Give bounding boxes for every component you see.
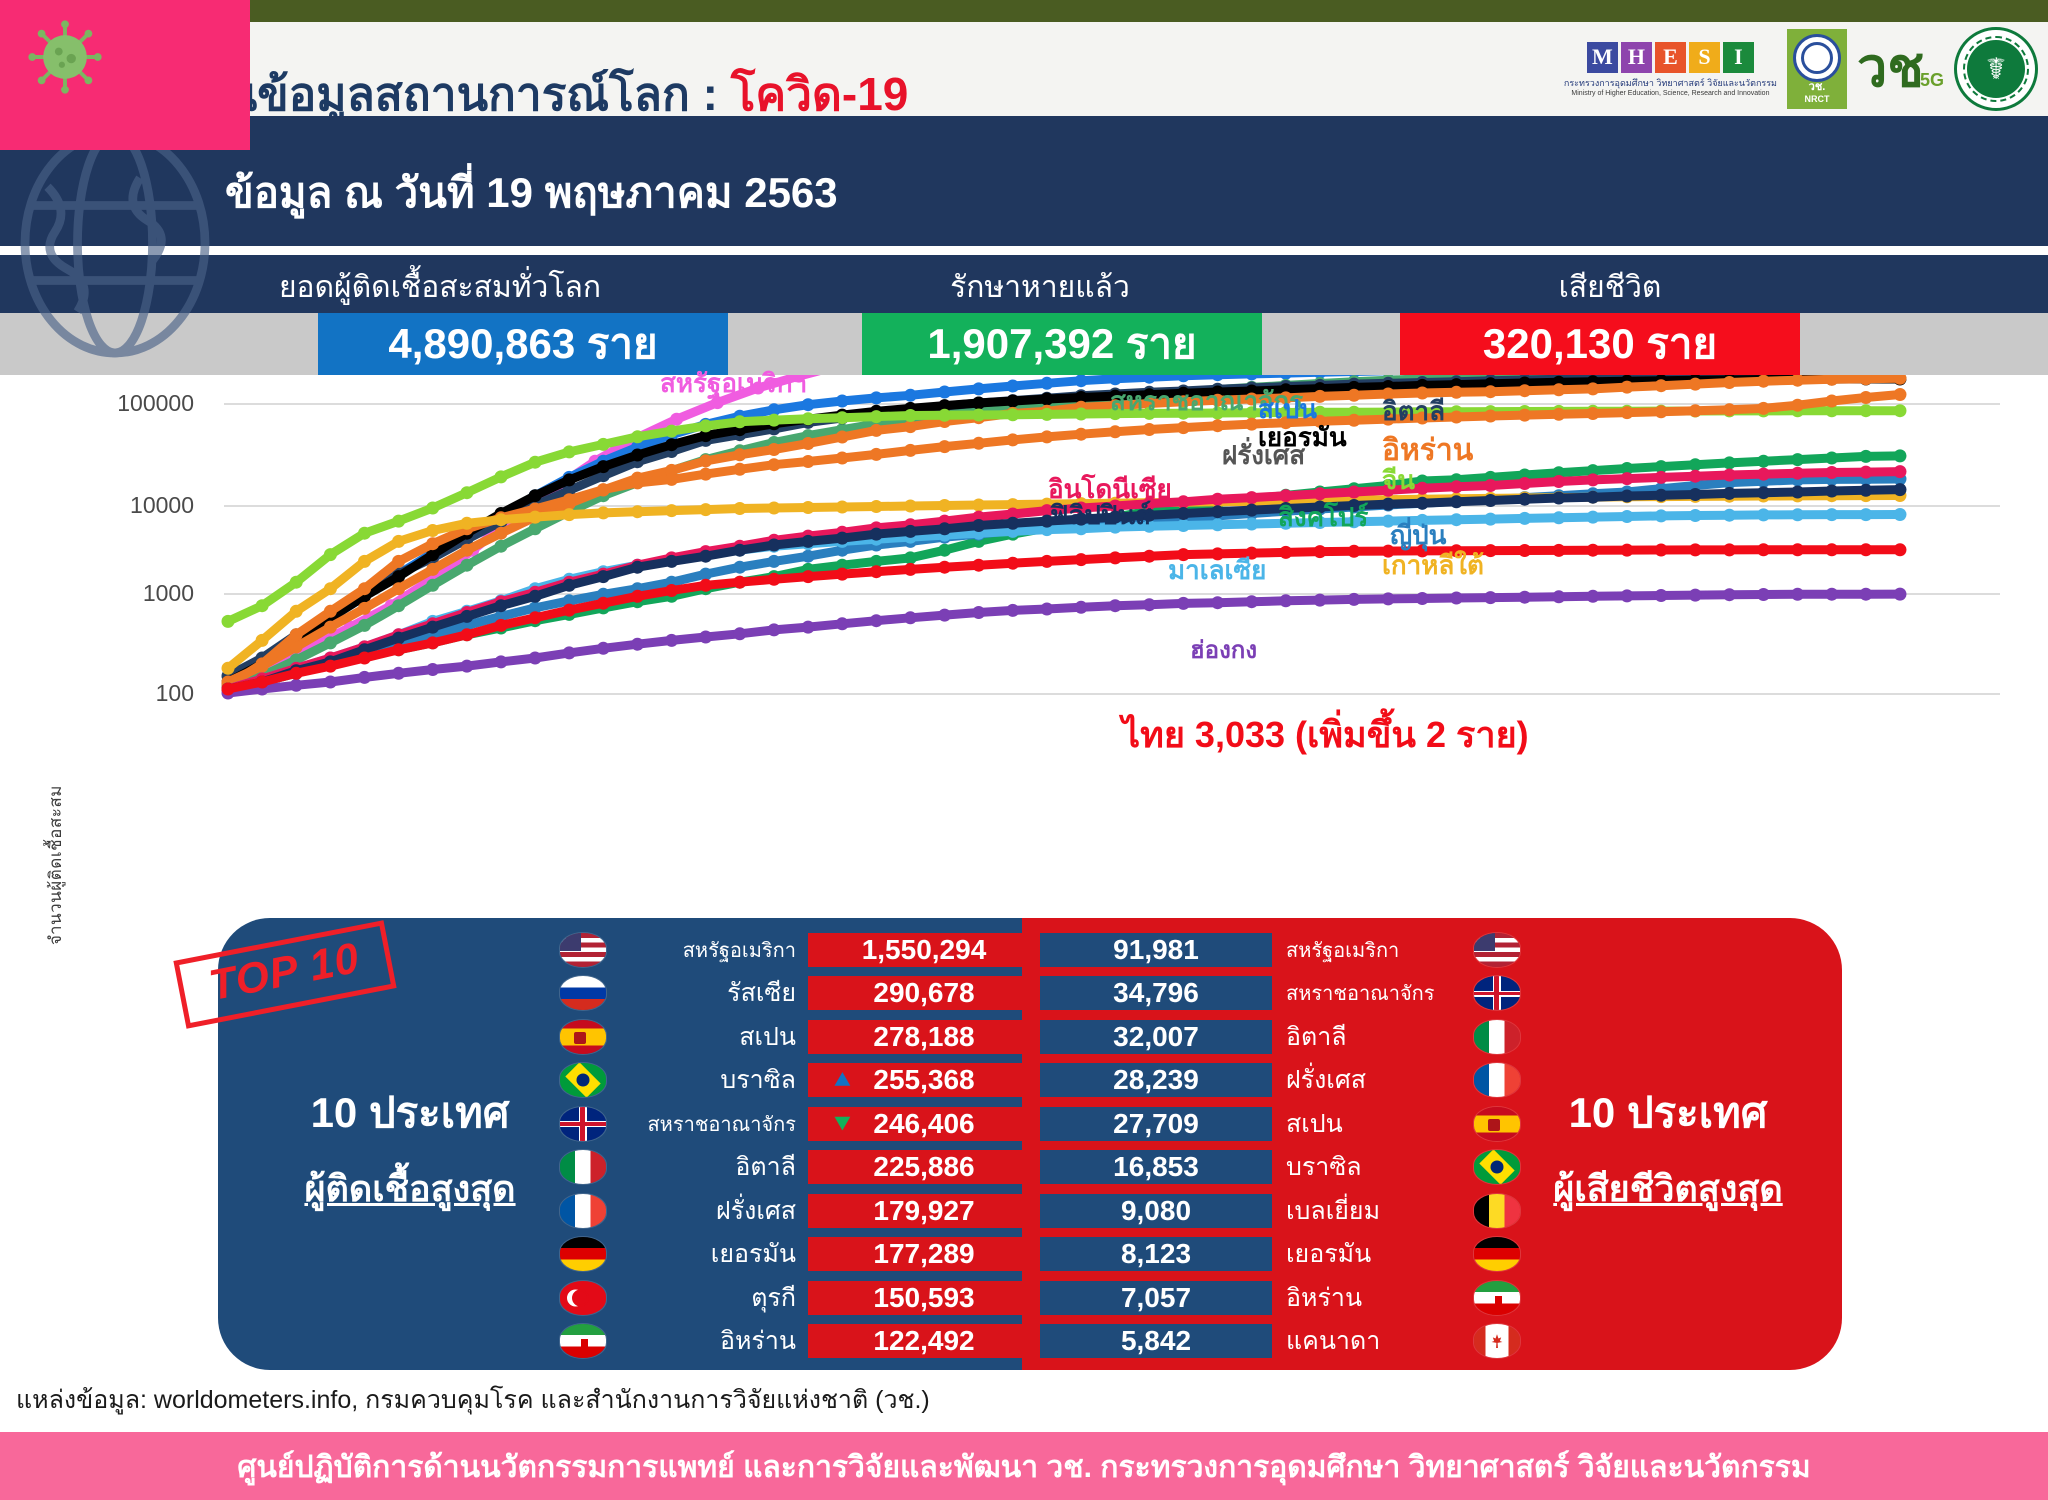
- chart-point: [1655, 544, 1668, 557]
- chart-point: [358, 652, 371, 665]
- country-name: รัสเซีย: [606, 973, 808, 1013]
- mhesi-letters: M H E S I: [1587, 42, 1754, 73]
- chart-point: [1757, 486, 1770, 499]
- chart-point: [1859, 466, 1872, 479]
- chart-point: [1859, 508, 1872, 521]
- chart-point: [1143, 598, 1156, 611]
- chart-series-label: ฝรั่งเศส: [1222, 435, 1305, 476]
- chart-point: [1723, 543, 1736, 556]
- chart-svg: [0, 375, 2048, 915]
- chart-point: [392, 582, 405, 595]
- chart-point: [1655, 379, 1668, 392]
- chart-point: [256, 634, 269, 647]
- chart-point: [1825, 485, 1838, 498]
- chart-point: [938, 609, 951, 622]
- chart-point: [836, 411, 849, 424]
- chart-point: [1689, 378, 1702, 391]
- chart-point: [358, 582, 371, 595]
- chart-point: [1177, 507, 1190, 520]
- chart-point: [1416, 592, 1429, 605]
- chart-point: [1894, 388, 1907, 401]
- stat-value-deaths: 320,130 ราย: [1400, 313, 1800, 375]
- chart-point: [870, 410, 883, 423]
- top10-deaths-heading-line2: ผู้เสียชีวิตสูงสุด: [1478, 1160, 1858, 1217]
- chart-point: [768, 414, 781, 427]
- table-row: 5,842แคนาดา: [1040, 1320, 1520, 1364]
- chart-point: [1723, 469, 1736, 482]
- chart-point: [1040, 377, 1053, 390]
- chart-point: [1518, 493, 1531, 506]
- chart-point: [1586, 382, 1599, 395]
- chart-point: [1859, 404, 1872, 417]
- chart-point: [768, 458, 781, 471]
- country-name: สหรัฐอเมริกา: [1272, 934, 1474, 966]
- chart-point: [836, 617, 849, 630]
- chart-point: [1825, 543, 1838, 556]
- chart-point: [1586, 491, 1599, 504]
- chart-point: [972, 409, 985, 422]
- chart-point: [1450, 386, 1463, 399]
- chart-point: [1211, 518, 1224, 531]
- chart-point: [324, 676, 337, 689]
- chart-point: [1586, 473, 1599, 486]
- chart-point: [1109, 599, 1122, 612]
- chart-point: [290, 576, 303, 589]
- table-row: เยอรมัน177,289: [560, 1233, 1040, 1277]
- chart-point: [1791, 375, 1804, 387]
- chart-point: [1382, 592, 1395, 605]
- chart-point: [802, 412, 815, 425]
- chart-point: [972, 606, 985, 619]
- chart-point: [1894, 449, 1907, 462]
- chart-point: [1552, 475, 1565, 488]
- olive-top-strip: [0, 0, 2048, 22]
- country-flag-icon: [560, 1281, 606, 1315]
- chart-point: [460, 660, 473, 673]
- chart-point: [1552, 511, 1565, 524]
- chart-series-label: ฟิลิปปินส์: [1050, 495, 1151, 536]
- chart-point: [1075, 553, 1088, 566]
- chart-point: [1757, 375, 1770, 388]
- case-count: 177,289: [808, 1237, 1040, 1271]
- chart-point: [529, 511, 542, 524]
- chart-point: [358, 671, 371, 684]
- chart-point: [563, 646, 576, 659]
- chart-point: [904, 611, 917, 624]
- chart-point: [426, 663, 439, 676]
- country-name: สหราชอาณาจักร: [606, 1108, 808, 1140]
- nrct-thai-label: วช.: [1809, 82, 1826, 94]
- chart-point: [1211, 493, 1224, 506]
- chart-point: [324, 605, 337, 618]
- country-flag-icon: [1474, 1324, 1520, 1358]
- country-flag-icon: [1474, 933, 1520, 967]
- chart-point: [972, 397, 985, 410]
- chart-point: [1143, 423, 1156, 436]
- table-row: 16,853บราซิล: [1040, 1146, 1520, 1190]
- chart-point: [358, 555, 371, 568]
- chart-point: [1723, 509, 1736, 522]
- thailand-callout: ไทย 3,033 (เพิ่มขึ้น 2 ราย): [1122, 706, 1529, 763]
- chart-point: [631, 505, 644, 518]
- chart-point: [1859, 588, 1872, 601]
- table-row: 9,080เบลเยี่ยม: [1040, 1189, 1520, 1233]
- chart-point: [1416, 497, 1429, 510]
- chart-point: [222, 683, 235, 696]
- chart-point: [733, 576, 746, 589]
- stat-label-deaths: เสียชีวิต: [1400, 264, 1820, 311]
- chart-point: [1655, 489, 1668, 502]
- chart-point: [529, 652, 542, 665]
- country-flag-icon: [560, 1150, 606, 1184]
- chart-point: [870, 500, 883, 513]
- chart-point: [426, 524, 439, 537]
- mhesi-thai-name: กระทรวงการอุดมศึกษา วิทยาศาสตร์ วิจัยและ…: [1564, 76, 1777, 90]
- chart-point: [938, 440, 951, 453]
- case-count: ⯆246,406: [808, 1107, 1040, 1141]
- chart-point: [426, 537, 439, 550]
- chart-point: [324, 636, 337, 649]
- chart-point: [256, 676, 269, 689]
- table-row: อิหร่าน122,492: [560, 1320, 1040, 1364]
- country-flag-icon: [560, 1107, 606, 1141]
- chart-point: [1894, 404, 1907, 417]
- chart-point: [836, 532, 849, 545]
- country-name: เบลเยี่ยม: [1272, 1191, 1474, 1231]
- chart-point: [1621, 406, 1634, 419]
- chart-point: [836, 395, 849, 408]
- chart-point: [972, 499, 985, 512]
- chart-point: [1859, 391, 1872, 404]
- chart-point: [1859, 450, 1872, 463]
- chart-point: [631, 476, 644, 489]
- nrct-emblem-icon: [1793, 34, 1841, 82]
- case-count: 225,886: [808, 1150, 1040, 1184]
- chart-point: [870, 424, 883, 437]
- chart-series-label: สิงคโปร์: [1278, 497, 1368, 538]
- chart-point: [1484, 410, 1497, 423]
- chart-point: [1313, 545, 1326, 558]
- chart-point: [802, 570, 815, 583]
- chart-point: [460, 517, 473, 530]
- chart-point: [836, 452, 849, 465]
- chart-point: [870, 391, 883, 404]
- chart-series-label: สหรัฐอเมริกา: [660, 363, 807, 404]
- nrct-logo: วช. NRCT: [1787, 29, 1847, 109]
- chart-point: [1894, 543, 1907, 556]
- chart-point: [495, 513, 508, 526]
- country-name: บราซิล: [606, 1060, 808, 1100]
- chart-point: [972, 382, 985, 395]
- chart-point: [1757, 402, 1770, 415]
- chart-point: [938, 499, 951, 512]
- death-count: 34,796: [1040, 976, 1272, 1010]
- chart-point: [1723, 376, 1736, 389]
- chart-point: [460, 628, 473, 641]
- date-line: ข้อมูล ณ วันที่ 19 พฤษภาคม 2563: [225, 160, 838, 226]
- chart-point: [1894, 483, 1907, 496]
- table-row: สหรัฐอเมริกา1,550,294: [560, 928, 1040, 972]
- chart-point: [1006, 604, 1019, 617]
- chart-point: [1211, 505, 1224, 518]
- chart-point: [495, 470, 508, 483]
- country-name: สเปน: [606, 1017, 808, 1057]
- chart-point: [768, 573, 781, 586]
- chart-point: [529, 489, 542, 502]
- case-count: 179,927: [808, 1194, 1040, 1228]
- chart-point: [1416, 482, 1429, 495]
- table-row: 27,709สเปน: [1040, 1102, 1520, 1146]
- country-flag-icon: [1474, 976, 1520, 1010]
- country-name: บราซิล: [1272, 1147, 1474, 1187]
- chart-point: [1825, 508, 1838, 521]
- chart-point: [1279, 546, 1292, 559]
- country-name: อิตาลี: [1272, 1017, 1474, 1057]
- mhesi-letter-h: H: [1621, 42, 1652, 73]
- chart-point: [802, 550, 815, 563]
- chart-point: [1040, 603, 1053, 616]
- table-row: 32,007อิตาลี: [1040, 1015, 1520, 1059]
- chart-point: [1859, 375, 1872, 385]
- country-name: สหรัฐอเมริกา: [606, 934, 808, 966]
- table-row: 7,057อิหร่าน: [1040, 1276, 1520, 1320]
- chart-point: [1552, 492, 1565, 505]
- country-flag-icon: [560, 933, 606, 967]
- chart-point: [1621, 589, 1634, 602]
- chart-point: [699, 550, 712, 563]
- chart-point: [1655, 589, 1668, 602]
- nrct-5g-logo: วช 5G: [1857, 47, 1944, 90]
- table-row: บราซิล⯅255,368: [560, 1059, 1040, 1103]
- chart-point: [1450, 592, 1463, 605]
- logo-row: M H E S I กระทรวงการอุดมศึกษา วิทยาศาสตร…: [1564, 26, 2038, 112]
- chart-point: [904, 563, 917, 576]
- chart-point: [1859, 484, 1872, 497]
- mhesi-letter-s: S: [1689, 42, 1720, 73]
- top10-cases-heading: 10 ประเทศ ผู้ติดเชื้อสูงสุด: [240, 1080, 580, 1217]
- chart-point: [972, 559, 985, 572]
- chart-point: [904, 525, 917, 538]
- chart-point: [290, 679, 303, 692]
- chart-point: [1518, 591, 1531, 604]
- chart-point: [256, 657, 269, 670]
- five-g-label: 5G: [1920, 70, 1944, 91]
- chart-point: [529, 522, 542, 535]
- chart-point: [1621, 472, 1634, 485]
- chart-point: [665, 504, 678, 517]
- chart-point: [1689, 543, 1702, 556]
- case-count: 290,678: [808, 976, 1040, 1010]
- chart-point: [1655, 509, 1668, 522]
- top10-cases-table: สหรัฐอเมริกา1,550,294รัสเซีย290,678สเปน2…: [560, 928, 1040, 1363]
- chart-point: [733, 544, 746, 557]
- chart-series-label: ฮ่องกง: [1190, 630, 1257, 669]
- chart-point: [904, 409, 917, 422]
- chart-point: [1894, 508, 1907, 521]
- chart-point: [597, 483, 610, 496]
- mhesi-letter-e: E: [1655, 42, 1686, 73]
- chart-series-label: เกาหลีใต้: [1382, 545, 1484, 586]
- chart-point: [768, 555, 781, 568]
- chart-point: [1825, 395, 1838, 408]
- top10-cases-heading-line2: ผู้ติดเชื้อสูงสุด: [240, 1160, 580, 1217]
- country-flag-icon: [1474, 1107, 1520, 1141]
- chart-point: [1791, 399, 1804, 412]
- chart-point: [631, 590, 644, 603]
- country-flag-icon: [1474, 1063, 1520, 1097]
- chart-point: [358, 619, 371, 632]
- death-count: 28,239: [1040, 1063, 1272, 1097]
- chart-point: [290, 605, 303, 618]
- chart-point: [631, 561, 644, 574]
- table-row: 8,123เยอรมัน: [1040, 1233, 1520, 1277]
- chart-point: [1518, 544, 1531, 557]
- chart-point: [733, 463, 746, 476]
- chart-point: [1245, 491, 1258, 504]
- country-flag-icon: [1474, 1194, 1520, 1228]
- country-name: แคนาดา: [1272, 1321, 1474, 1361]
- chart-point: [938, 409, 951, 422]
- chart-point: [665, 634, 678, 647]
- chart-point: [1552, 544, 1565, 557]
- chart-point: [1245, 595, 1258, 608]
- top10-deaths-table: 91,981สหรัฐอเมริกา34,796สหราชอาณาจักร32,…: [1040, 928, 1520, 1363]
- chart-point: [1757, 455, 1770, 468]
- chart-point: [1518, 512, 1531, 525]
- table-row: 34,796สหราชอาณาจักร: [1040, 972, 1520, 1016]
- trend-up-icon: ⯅: [832, 1067, 853, 1093]
- chart-point: [802, 501, 815, 514]
- chart-point: [1006, 380, 1019, 393]
- country-name: เยอรมัน: [606, 1234, 808, 1274]
- chart-point: [1211, 596, 1224, 609]
- chart-point: [1484, 385, 1497, 398]
- chart-point: [670, 413, 683, 426]
- case-count: 1,550,294: [808, 933, 1040, 967]
- infographic-page: รายงานข้อมูลสถานการณ์โลก : โควิด-19 M H …: [0, 0, 2048, 1500]
- chart-point: [733, 448, 746, 461]
- chart-point: [597, 642, 610, 655]
- chart-point: [870, 565, 883, 578]
- chart-point: [1894, 588, 1907, 601]
- chart-point: [665, 438, 678, 451]
- chart-point: [460, 559, 473, 572]
- country-flag-icon: [1474, 1020, 1520, 1054]
- chart-point: [392, 632, 405, 645]
- chart-point: [665, 425, 678, 438]
- chart-point: [1040, 393, 1053, 406]
- chart-point: [1348, 593, 1361, 606]
- chart-series-label: จีน: [1382, 460, 1415, 501]
- death-count: 5,842: [1040, 1324, 1272, 1358]
- chart-point: [358, 527, 371, 540]
- chart-point: [1791, 588, 1804, 601]
- chart-point: [1621, 510, 1634, 523]
- chart-point: [1791, 508, 1804, 521]
- chart-point: [665, 473, 678, 486]
- chart-point: [1757, 508, 1770, 521]
- chart-point: [563, 604, 576, 617]
- chart-point: [699, 468, 712, 481]
- chart-point: [1791, 486, 1804, 499]
- chart-point: [1450, 513, 1463, 526]
- nrct-swirl-icon: วช: [1857, 47, 1924, 90]
- chart-point: [1518, 477, 1531, 490]
- chart-point: [529, 590, 542, 603]
- chart-point: [1757, 588, 1770, 601]
- chart-point: [1075, 601, 1088, 614]
- country-flag-icon: [1474, 1150, 1520, 1184]
- case-count: 278,188: [808, 1020, 1040, 1054]
- chart-point: [1586, 590, 1599, 603]
- chart-point: [222, 615, 235, 628]
- chart-point: [1825, 466, 1838, 479]
- chart-point: [597, 506, 610, 519]
- chart-point: [1825, 588, 1838, 601]
- chart-point: [1040, 555, 1053, 568]
- chart-point: [904, 500, 917, 513]
- chart-point: [768, 502, 781, 515]
- country-name: ตุรกี: [606, 1278, 808, 1318]
- chart-point: [1177, 597, 1190, 610]
- chart-point: [495, 540, 508, 553]
- chart-point: [699, 631, 712, 644]
- chart-point: [733, 415, 746, 428]
- chart-point: [290, 667, 303, 680]
- chart-point: [1518, 409, 1531, 422]
- chart-point: [836, 501, 849, 514]
- country-flag-icon: [560, 1063, 606, 1097]
- source-note: แหล่งข้อมูล: worldometers.info, กรมควบคุ…: [16, 1380, 930, 1420]
- death-count: 8,123: [1040, 1237, 1272, 1271]
- chart-point: [972, 519, 985, 532]
- chart-point: [1313, 594, 1326, 607]
- chart-point: [222, 662, 235, 675]
- chart-point: [1245, 375, 1258, 380]
- chart-point: [563, 579, 576, 592]
- chart-point: [665, 555, 678, 568]
- chart-point: [1689, 509, 1702, 522]
- death-count: 9,080: [1040, 1194, 1272, 1228]
- country-name: อิหร่าน: [606, 1321, 808, 1361]
- chart-point: [1450, 411, 1463, 424]
- chart-point: [1757, 468, 1770, 481]
- chart-point: [1177, 421, 1190, 434]
- country-flag-icon: [560, 1020, 606, 1054]
- chart-point: [1006, 433, 1019, 446]
- top10-deaths-heading-line1: 10 ประเทศ: [1478, 1080, 1858, 1146]
- chart-point: [1518, 384, 1531, 397]
- table-row: รัสเซีย290,678: [560, 972, 1040, 1016]
- country-flag-icon: [1474, 1281, 1520, 1315]
- chart-point: [1075, 408, 1088, 421]
- chart-point: [1177, 519, 1190, 532]
- chart-point: [1689, 404, 1702, 417]
- moph-logo: ☤: [1954, 27, 2038, 111]
- chart-point: [1484, 544, 1497, 557]
- chart-point: [324, 660, 337, 673]
- chart-point: [324, 621, 337, 634]
- chart-point: [1245, 504, 1258, 517]
- chart-point: [1859, 543, 1872, 556]
- table-row: สหราชอาณาจักร⯆246,406: [560, 1102, 1040, 1146]
- chart-point: [938, 522, 951, 535]
- chart-point: [1552, 590, 1565, 603]
- table-row: ตุรกี150,593: [560, 1276, 1040, 1320]
- chart-point: [392, 535, 405, 548]
- chart-point: [768, 443, 781, 456]
- chart-point: [1109, 425, 1122, 438]
